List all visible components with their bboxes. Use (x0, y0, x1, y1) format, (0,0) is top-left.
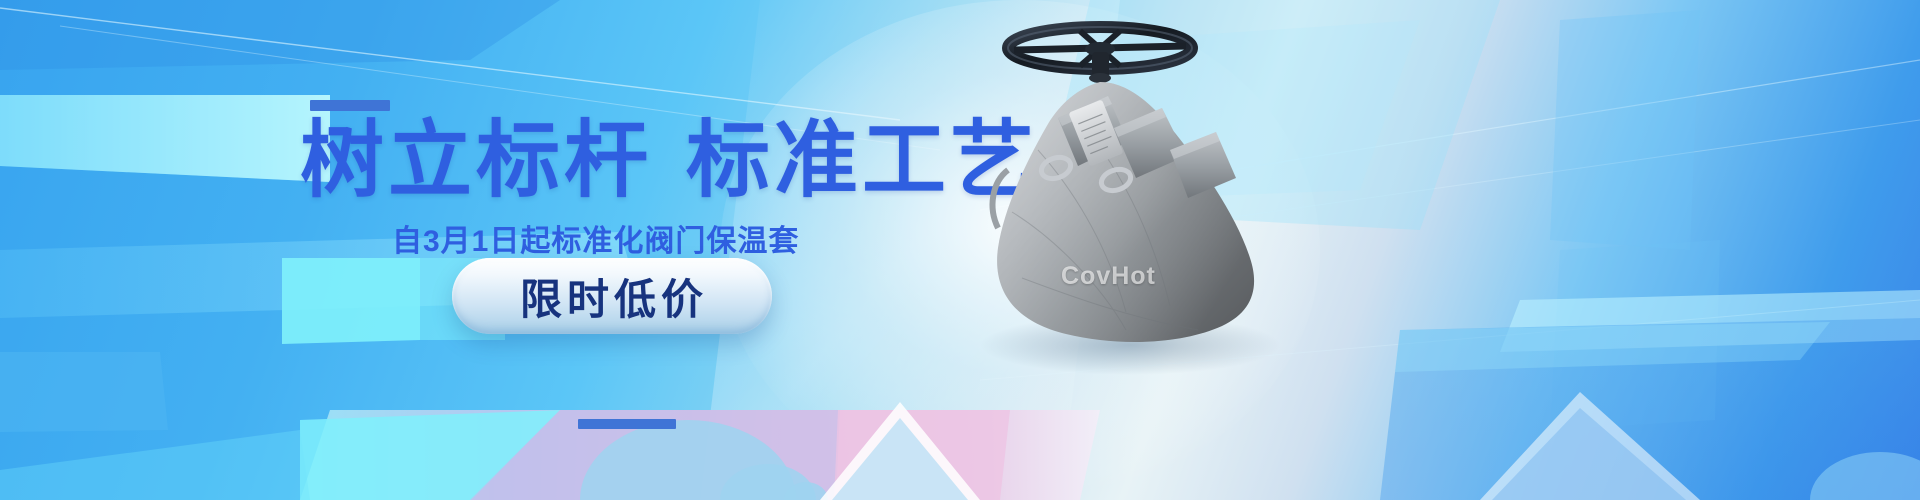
banner-copy: 树立标杆标准工艺 自3月1日起标准化阀门保温套 限时低价 (0, 0, 940, 500)
limited-price-button-label: 限时低价 (516, 266, 708, 327)
valve-handwheel-icon (1008, 27, 1192, 83)
headline-part-1: 树立标杆 (300, 113, 652, 207)
page-title: 树立标杆标准工艺 (300, 118, 1038, 202)
promo-banner: 树立标杆标准工艺 自3月1日起标准化阀门保温套 限时低价 (0, 0, 1920, 500)
limited-price-button[interactable]: 限时低价 (452, 258, 772, 334)
accent-tick-top (310, 100, 390, 111)
product-image (930, 0, 1350, 420)
banner-subtitle: 自3月1日起标准化阀门保温套 (392, 216, 799, 260)
accent-tick-bottom (578, 419, 676, 429)
valve-jacket-illustration (930, 0, 1350, 420)
